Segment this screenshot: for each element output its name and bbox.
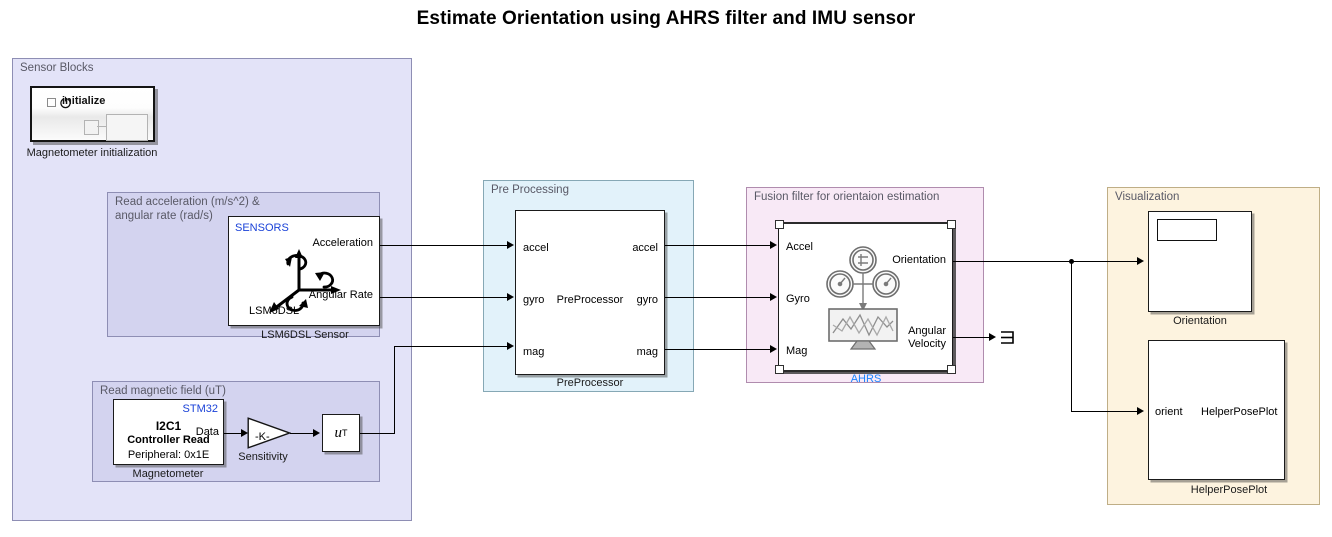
port-label-in-accel: accel xyxy=(523,242,549,254)
transpose-exponent: T xyxy=(342,428,348,438)
port-label-gyro: Gyro xyxy=(786,293,810,305)
orientation-display-block[interactable] xyxy=(1148,211,1252,312)
caption-helper-pose-plot: HelperPosePlot xyxy=(1099,484,1332,496)
wire-gain-to-transpose xyxy=(290,433,314,434)
selection-edge-top xyxy=(778,222,955,224)
vendor-tag-stm32: STM32 xyxy=(183,403,218,415)
arrowhead-ahrs-accel xyxy=(770,241,777,249)
preprocessor-block[interactable]: accel gyro mag accel gyro mag PreProcess… xyxy=(515,210,665,375)
checkbox-icon[interactable] xyxy=(47,98,56,107)
wire-mag-seg2 xyxy=(394,346,395,434)
wire-mag-seg3 xyxy=(394,346,508,347)
wire-pp-gyro-out xyxy=(665,297,771,298)
wire-angular-velocity xyxy=(953,337,991,338)
selection-handle-top-left[interactable] xyxy=(775,220,784,229)
wire-orientation-main xyxy=(953,261,1138,262)
arrowhead-ahrs-mag xyxy=(770,345,777,353)
simulink-canvas: Estimate Orientation using AHRS filter a… xyxy=(0,0,1332,537)
port-label-out-accel: accel xyxy=(632,242,658,254)
transpose-block[interactable]: uT xyxy=(322,414,360,452)
area-label-visualization: Visualization xyxy=(1115,191,1179,205)
arrowhead-accel-in xyxy=(507,241,514,249)
page-title: Estimate Orientation using AHRS filter a… xyxy=(0,8,1332,30)
init-input-port-glyph xyxy=(84,120,99,135)
initialize-label: initialize xyxy=(62,95,105,107)
arrowhead-gain-in xyxy=(241,429,248,437)
wire-angular-rate xyxy=(380,297,508,298)
arrowhead-mag-in xyxy=(507,342,514,350)
arrowhead-helper-pose-plot-in xyxy=(1137,407,1144,415)
ahrs-filter-block[interactable]: Accel Gyro Mag Orientation Angular Veloc… xyxy=(778,223,953,371)
port-label-angular-velocity: Angular Velocity xyxy=(908,325,946,351)
arrowhead-gyro-in xyxy=(507,293,514,301)
caption-sensitivity: Sensitivity xyxy=(133,451,393,463)
area-label-pre-processing: Pre Processing xyxy=(491,184,569,198)
port-label-mag: Mag xyxy=(786,345,807,357)
port-label-in-mag: mag xyxy=(523,346,544,358)
init-body-glyph xyxy=(106,114,148,141)
arrowhead-orientation-display-in xyxy=(1137,257,1144,265)
selection-handle-top-right[interactable] xyxy=(947,220,956,229)
wire-orientation-branch-horizontal xyxy=(1071,411,1138,412)
block-name-helperposeplot: HelperPosePlot xyxy=(1201,406,1277,418)
transpose-u: u xyxy=(335,425,343,442)
caption-magnetometer: Magnetometer xyxy=(38,468,298,480)
sensitivity-gain-block[interactable]: -K- xyxy=(247,417,291,449)
port-label-accel: Accel xyxy=(786,241,813,253)
port-label-out-mag: mag xyxy=(637,346,658,358)
area-label-sensor-blocks: Sensor Blocks xyxy=(20,62,94,76)
three-axis-icon xyxy=(261,243,343,320)
area-label-fusion-filter: Fusion filter for orientaion estimation xyxy=(754,191,939,205)
port-label-data: Data xyxy=(196,426,219,438)
transpose-symbol: uT xyxy=(323,415,359,451)
lsm6dsl-sensor-block[interactable]: SENSORS Acceleration Angular Rate LSM6DS… xyxy=(228,216,380,326)
block-name-preprocessor: PreProcessor xyxy=(516,294,664,306)
wire-data-to-gain xyxy=(224,433,242,434)
area-label-read-magnetic-field: Read magnetic field (uT) xyxy=(100,385,226,399)
vendor-tag-sensors: SENSORS xyxy=(235,222,289,234)
wire-pp-accel-out xyxy=(665,245,771,246)
arrowhead-terminator-in xyxy=(989,333,996,341)
wire-acceleration xyxy=(380,245,508,246)
wire-mag-seg1 xyxy=(360,433,395,434)
selection-edge-bottom xyxy=(778,370,955,372)
gain-value-label: -K- xyxy=(255,431,270,443)
fusion-sensor-icon xyxy=(823,245,903,358)
caption-lsm6dsl-sensor: LSM6DSL Sensor xyxy=(175,329,435,341)
caption-orientation: Orientation xyxy=(1070,315,1330,327)
caption-ahrs: AHRS xyxy=(736,373,996,385)
helper-pose-plot-block[interactable]: orient HelperPosePlot xyxy=(1148,340,1285,480)
terminator-block[interactable] xyxy=(1000,330,1016,350)
arrowhead-ahrs-gyro xyxy=(770,293,777,301)
display-value-field xyxy=(1157,219,1217,241)
caption-preprocessor: PreProcessor xyxy=(460,377,720,389)
port-label-orient: orient xyxy=(1155,406,1183,418)
magnetometer-initialize-block[interactable]: initialize xyxy=(30,86,155,142)
arrowhead-transpose-in xyxy=(313,429,320,437)
init-connector-glyph xyxy=(97,126,106,127)
wire-orientation-branch-vertical xyxy=(1071,261,1072,411)
caption-magnetometer-initialization: Magnetometer initialization xyxy=(0,147,222,159)
wire-pp-mag-out xyxy=(665,349,771,350)
